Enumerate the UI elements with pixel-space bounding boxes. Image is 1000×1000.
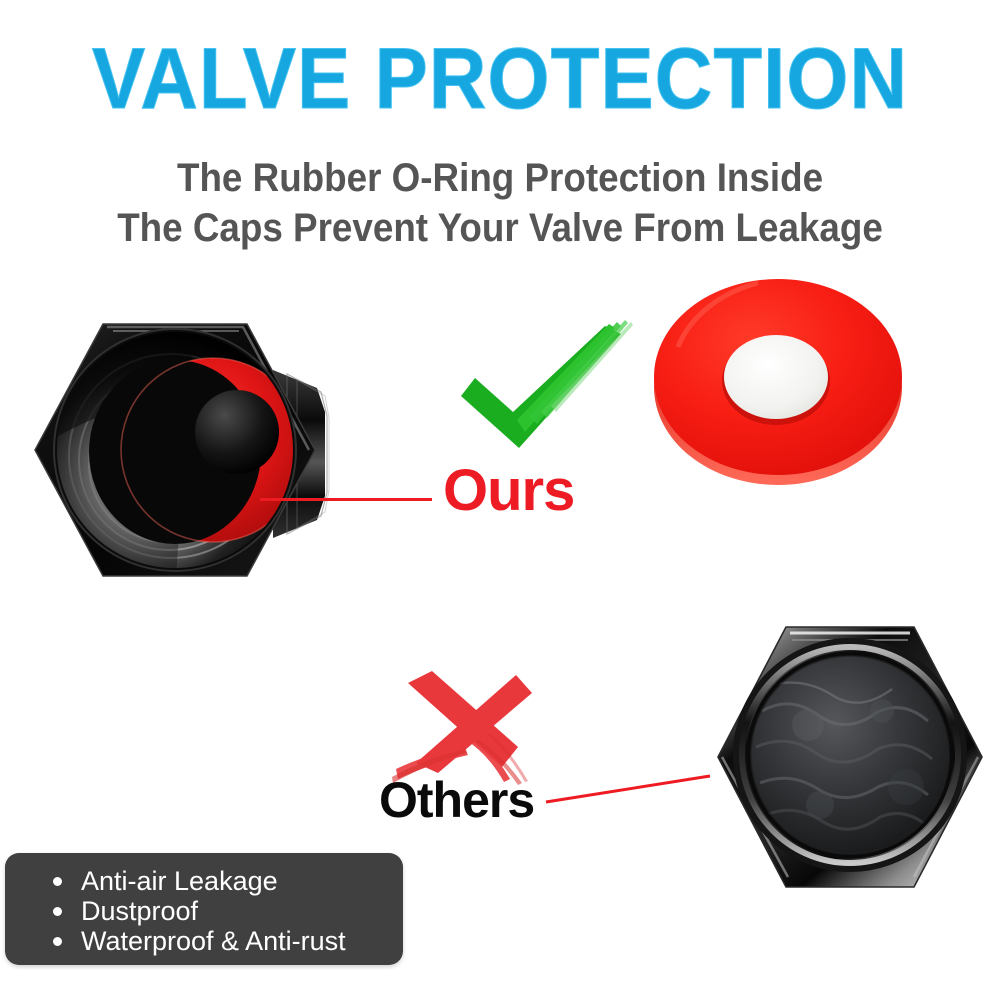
leader-line-others: [544, 770, 714, 806]
others-valve-cap-photo: [700, 615, 1000, 900]
feature-item-label: Anti-air Leakage: [81, 866, 278, 896]
bullet-icon: [53, 877, 62, 886]
red-oring-photo: [640, 265, 920, 490]
ours-valve-cap-photo: [25, 300, 370, 600]
leader-line-ours: [260, 498, 432, 501]
label-others: Others: [379, 775, 534, 825]
feature-item: Anti-air Leakage: [53, 866, 403, 896]
bullet-icon: [53, 937, 62, 946]
subtitle-line-2: The Caps Prevent Your Valve From Leakage: [40, 208, 960, 248]
feature-item-label: Dustproof: [81, 896, 198, 926]
feature-item-label: Waterproof & Anti-rust: [81, 926, 346, 956]
infographic-page: VALVE PROTECTION The Rubber O-Ring Prote…: [0, 0, 1000, 1000]
page-title: VALVE PROTECTION: [35, 36, 965, 122]
feature-list: Anti-air Leakage Dustproof Waterproof & …: [5, 853, 403, 956]
bullet-icon: [53, 907, 62, 916]
feature-item: Dustproof: [53, 896, 403, 926]
red-cross-icon: [390, 665, 540, 785]
subtitle-line-1: The Rubber O-Ring Protection Inside: [40, 158, 960, 198]
others-rough-interior: [751, 656, 949, 854]
green-check-icon: [455, 320, 645, 460]
oring-hole: [724, 335, 828, 419]
feature-list-box: Anti-air Leakage Dustproof Waterproof & …: [5, 853, 403, 965]
feature-item: Waterproof & Anti-rust: [53, 926, 403, 956]
oring-bead: [195, 390, 279, 474]
label-ours: Ours: [443, 462, 574, 520]
